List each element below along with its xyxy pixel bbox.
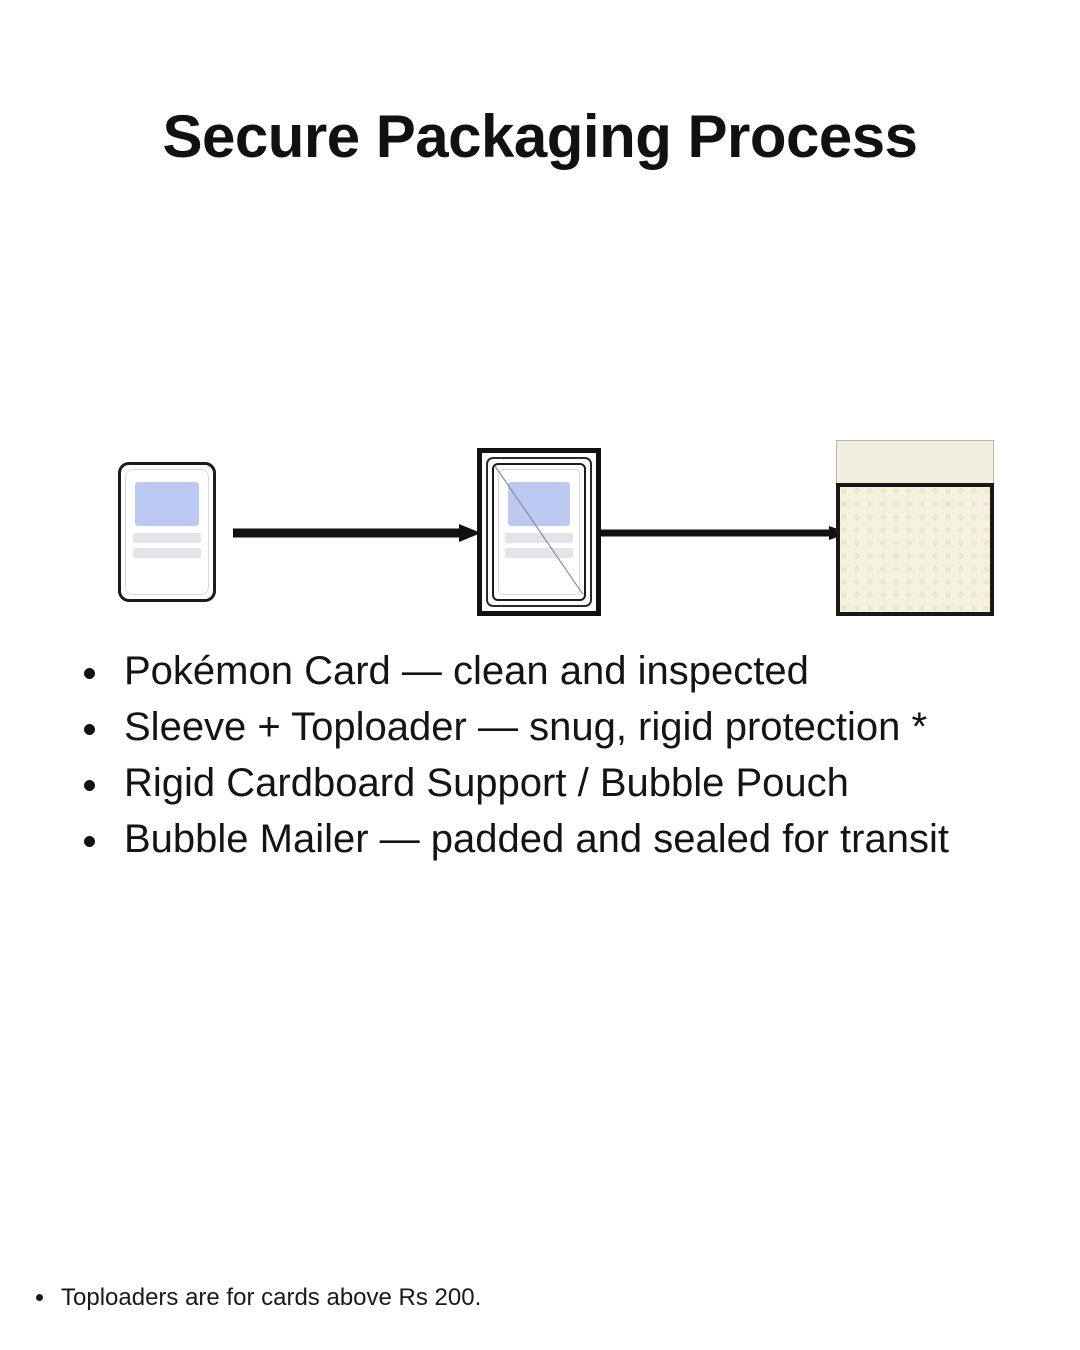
packaging-steps-list: Pokémon Card — clean and inspected Sleev… (84, 648, 1064, 872)
card-artwork-panel (135, 482, 199, 525)
card-text-bar (505, 548, 572, 558)
pokemon-card-graphic (118, 462, 216, 602)
bullet-dot-icon (84, 724, 95, 735)
arrow-card-to-toploader-icon (233, 523, 481, 543)
card-text-bar (133, 533, 202, 543)
list-item-label: Rigid Cardboard Support / Bubble Pouch (124, 760, 849, 806)
list-item-label: Sleeve + Toploader — snug, rigid protect… (124, 704, 927, 750)
footnote: Toploaders are for cards above Rs 200. (36, 1283, 481, 1313)
list-item: Sleeve + Toploader — snug, rigid protect… (84, 704, 1064, 750)
bullet-dot-icon (36, 1294, 43, 1301)
toploader-inner-wall (486, 457, 592, 607)
bubble-mailer-graphic (836, 440, 994, 616)
mailer-body (836, 483, 994, 616)
packaging-flow-diagram (0, 420, 1080, 630)
arrow-toploader-to-mailer-icon (601, 525, 849, 541)
footnote-label: Toploaders are for cards above Rs 200. (61, 1283, 481, 1313)
mailer-flap (836, 440, 994, 484)
bullet-dot-icon (84, 780, 95, 791)
toploader-graphic (477, 448, 601, 616)
page-title: Secure Packaging Process (0, 104, 1080, 170)
sleeve-graphic (492, 463, 586, 601)
bullet-dot-icon (84, 668, 95, 679)
list-item-label: Pokémon Card — clean and inspected (124, 648, 809, 694)
bubble-texture (840, 487, 990, 612)
list-item: Bubble Mailer — padded and sealed for tr… (84, 816, 1064, 862)
slide-root: { "slide": { "title": "Secure Packaging … (0, 0, 1080, 1350)
list-item: Pokémon Card — clean and inspected (84, 648, 1064, 694)
card-text-bar (505, 533, 572, 543)
card-artwork-panel (508, 482, 570, 525)
list-item: Rigid Cardboard Support / Bubble Pouch (84, 760, 1064, 806)
card-face (125, 469, 209, 595)
card-text-bar (133, 548, 202, 558)
card-face (498, 469, 580, 595)
list-item-label: Bubble Mailer — padded and sealed for tr… (124, 816, 949, 862)
bullet-dot-icon (84, 836, 95, 847)
